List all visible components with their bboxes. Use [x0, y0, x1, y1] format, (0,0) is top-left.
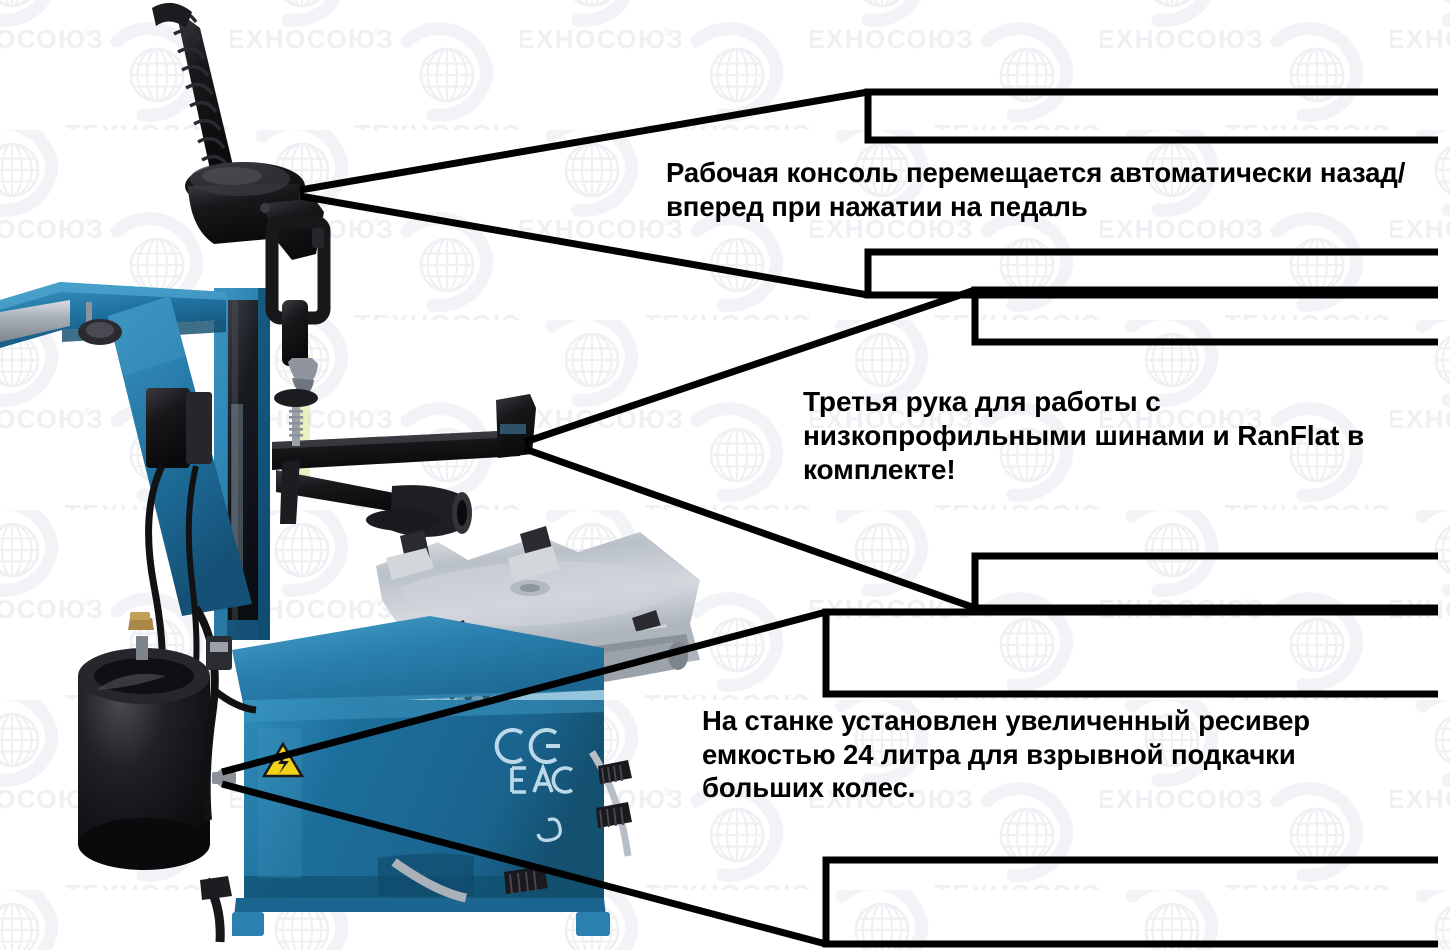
eac-mark: [512, 768, 572, 792]
callout-3-bracket-bottom: [826, 860, 1438, 944]
callout-1-leader: [868, 92, 1438, 140]
tire-changer-photo: [0, 0, 760, 950]
spring-hose: [152, 3, 236, 188]
callout-2-bracket-bottom: [975, 556, 1438, 608]
air-receiver-tank: [78, 608, 256, 942]
callout-text-air-receiver: На станке установлен увеличенный ресивер…: [702, 704, 1362, 805]
mount-demount-head: [260, 198, 324, 394]
callout-1-bracket-bottom: [868, 252, 1438, 295]
clamp-jaw: [386, 530, 434, 580]
clamp-jaw: [420, 620, 478, 668]
pedal: [504, 752, 632, 894]
callout-3-leader: [826, 612, 1438, 694]
third-arm: [272, 389, 536, 537]
callout-3-pointer-bottom: [222, 784, 826, 944]
clamp-jaw: [508, 526, 560, 582]
screenshot-canvas: ТЕХНОСОЮЗ ® ТЕХНОСОЮЗ ®: [0, 0, 1450, 950]
electric-hazard-icon: [264, 744, 302, 776]
turntable: [376, 526, 700, 704]
vertical-column: [214, 288, 310, 640]
clamp-jaw: [612, 610, 674, 662]
cabinet: [232, 616, 610, 936]
callout-2-leader: [975, 290, 1438, 342]
ce-mark: [497, 730, 560, 762]
callout-text-third-arm: Третья рука для работы с низкопрофильным…: [803, 385, 1403, 487]
swing-arm: [0, 282, 252, 672]
callout-text-work-console: Рабочая консоль перемещается автоматичес…: [666, 156, 1434, 223]
bead-breaker-roller: [366, 485, 472, 537]
work-console: [185, 162, 305, 244]
